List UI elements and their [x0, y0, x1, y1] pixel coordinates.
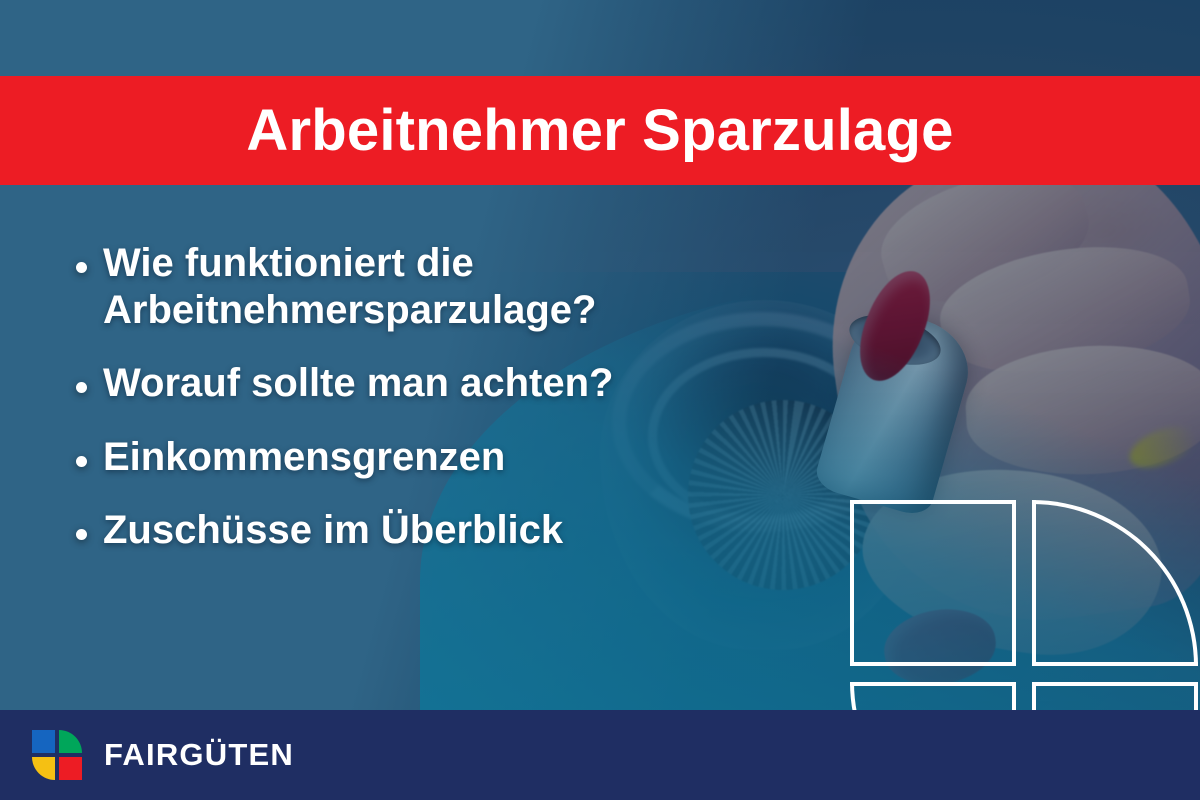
logo-quadrant-blue — [32, 730, 55, 753]
fairgueten-quadrant-logo-icon[interactable] — [32, 730, 82, 780]
page-title: Arbeitnehmer Sparzulage — [246, 102, 953, 160]
poster-canvas: Arbeitnehmer Sparzulage Wie funktioniert… — [0, 0, 1200, 800]
bullet-dot-icon — [76, 529, 87, 540]
bullet-dot-icon — [76, 456, 87, 467]
list-item-label: Worauf sollte man achten? — [103, 360, 613, 407]
list-item-label: Einkommensgrenzen — [103, 434, 505, 481]
watermark-quadrant-top-left — [850, 500, 1016, 666]
bullet-list: Wie funktioniert die Arbeitnehmersparzul… — [76, 240, 796, 554]
watermark-quadrant-top-right — [1032, 500, 1198, 666]
bullet-dot-icon — [76, 382, 87, 393]
list-item: Einkommensgrenzen — [76, 434, 796, 481]
list-item-label: Zuschüsse im Überblick — [103, 507, 563, 554]
list-item-label: Wie funktioniert die Arbeitnehmersparzul… — [103, 240, 796, 334]
list-item: Zuschüsse im Überblick — [76, 507, 796, 554]
logo-quadrant-yellow — [32, 757, 55, 780]
footer-bar: FAIRGÜTEN — [0, 710, 1200, 800]
bullet-dot-icon — [76, 262, 87, 273]
title-band: Arbeitnehmer Sparzulage — [0, 76, 1200, 185]
logo-quadrant-red — [59, 757, 82, 780]
list-item: Wie funktioniert die Arbeitnehmersparzul… — [76, 240, 796, 334]
list-item: Worauf sollte man achten? — [76, 360, 796, 407]
logo-quadrant-green — [59, 730, 82, 753]
brand-name[interactable]: FAIRGÜTEN — [104, 737, 294, 773]
